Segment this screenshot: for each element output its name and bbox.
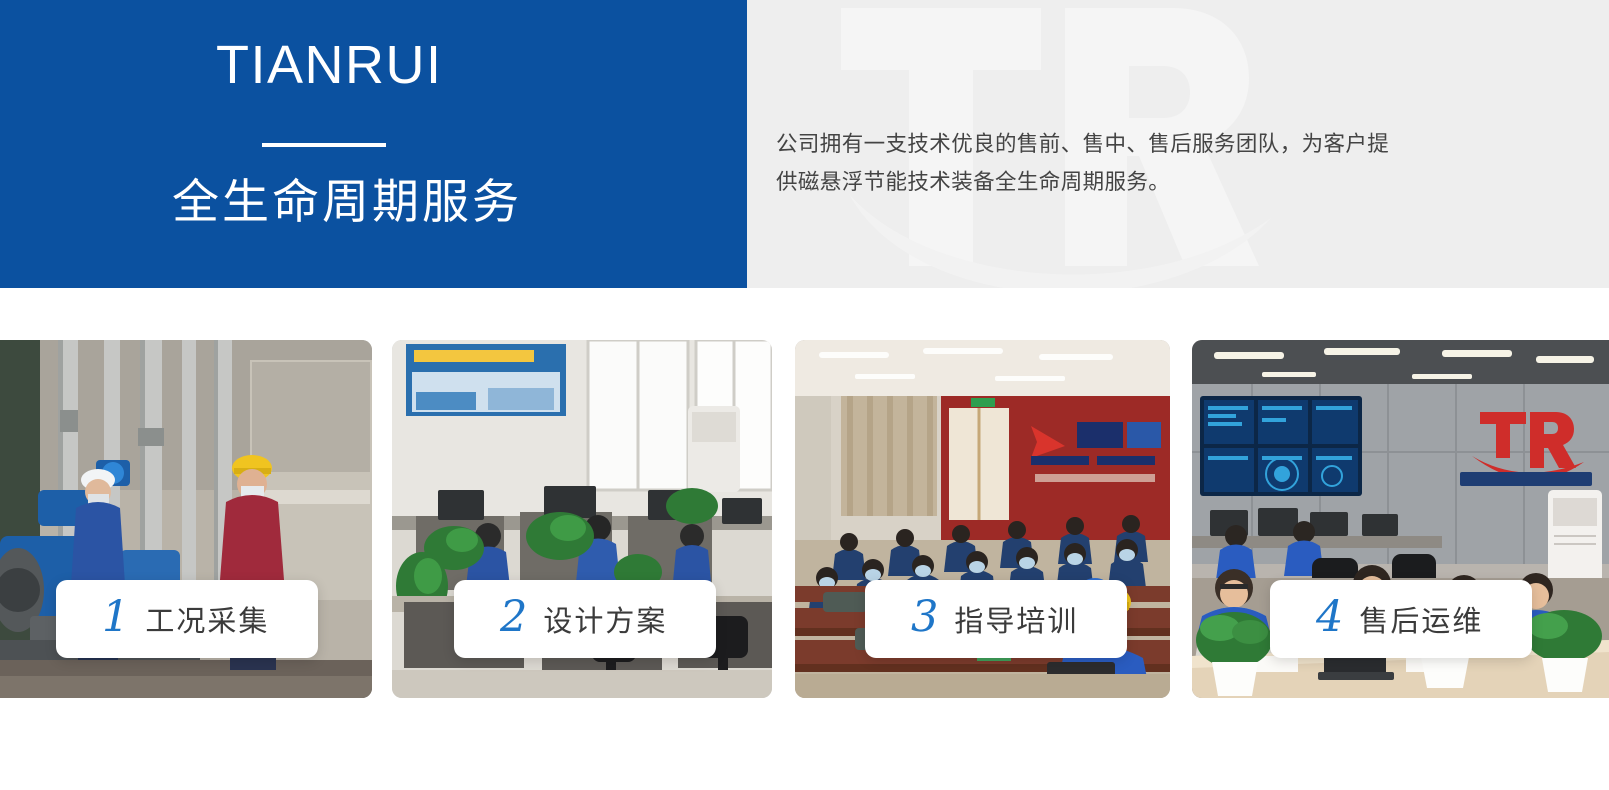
step-number-3: 3 xyxy=(911,596,938,639)
hero-banner: TIANRUI 全生命周期服务 公司拥有一支技术优良的售前、售中、售后服务团队，… xyxy=(0,0,1609,288)
step-number-2: 2 xyxy=(500,596,527,639)
step-label-1: 工况采集 xyxy=(145,598,269,640)
step-label-4: 售后运维 xyxy=(1359,598,1483,640)
service-lifecycle-page: TIANRUI 全生命周期服务 公司拥有一支技术优良的售前、售中、售后服务团队，… xyxy=(0,0,1609,790)
description-line-1: 公司拥有一支技术优良的售前、售中、售后服务团队，为客户提 xyxy=(776,126,1506,164)
step-label-3: 指导培训 xyxy=(954,598,1078,640)
banner-brand-panel: TIANRUI 全生命周期服务 xyxy=(0,0,747,288)
service-step-card-1[interactable]: 1 工况采集 xyxy=(0,340,372,698)
service-step-card-3[interactable]: 3 指导培训 xyxy=(795,340,1170,698)
banner-subtitle: 全生命周期服务 xyxy=(172,176,522,230)
service-step-card-2[interactable]: 2 设计方案 xyxy=(392,340,772,698)
page-title: TIANRUI xyxy=(216,38,443,92)
step-label-2: 设计方案 xyxy=(543,598,667,640)
step-number-1: 1 xyxy=(102,596,129,639)
caption-card-1: 1 工况采集 xyxy=(56,580,318,658)
banner-description: 公司拥有一支技术优良的售前、售中、售后服务团队，为客户提 供磁悬浮节能技术装备全… xyxy=(776,126,1506,202)
description-line-2: 供磁悬浮节能技术装备全生命周期服务。 xyxy=(776,164,1506,202)
caption-card-3: 3 指导培训 xyxy=(865,580,1127,658)
step-number-4: 4 xyxy=(1316,596,1343,639)
service-step-card-4[interactable]: 4 售后运维 xyxy=(1192,340,1609,698)
service-steps-gallery: 1 工况采集 xyxy=(0,340,1609,790)
banner-description-panel: 公司拥有一支技术优良的售前、售中、售后服务团队，为客户提 供磁悬浮节能技术装备全… xyxy=(747,0,1609,288)
title-divider xyxy=(262,143,386,147)
caption-card-2: 2 设计方案 xyxy=(454,580,716,658)
caption-card-4: 4 售后运维 xyxy=(1270,580,1532,658)
